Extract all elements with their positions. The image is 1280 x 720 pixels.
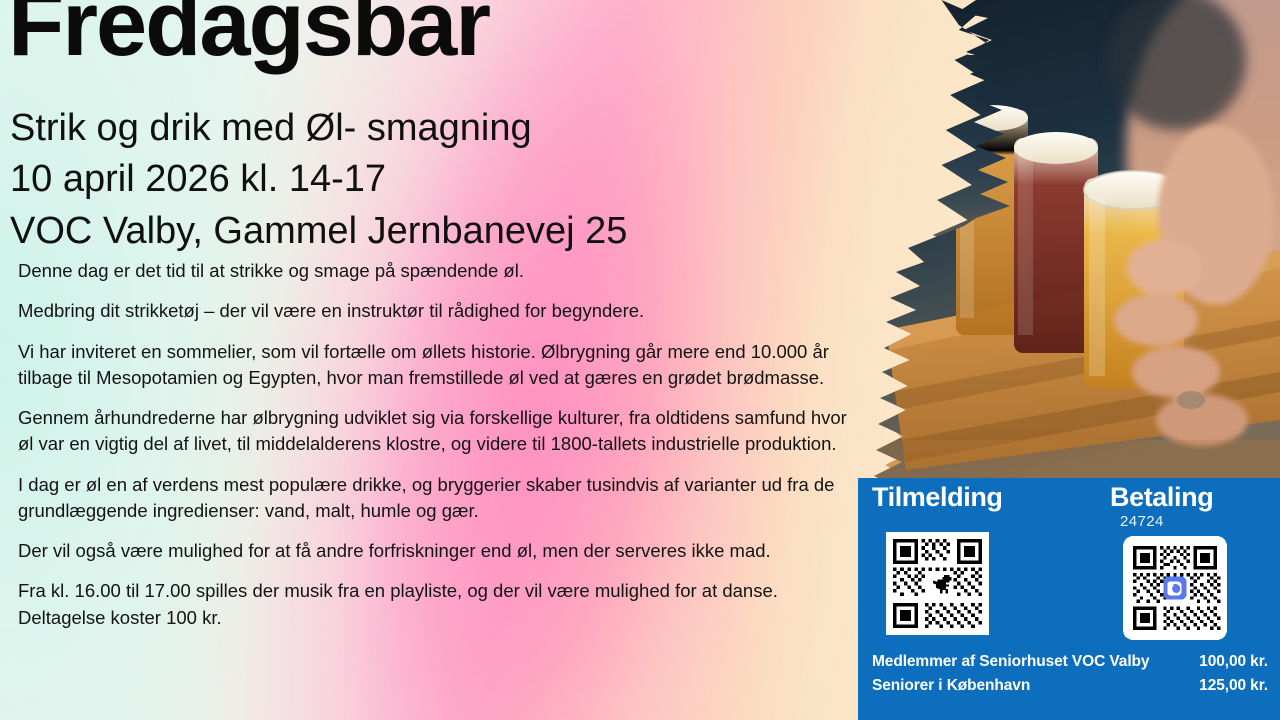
mobilepay-number: 24724: [1120, 513, 1164, 530]
payment-qr-code[interactable]: [1123, 536, 1227, 640]
price-row: Medlemmer af Seniorhuset VOC Valby 100,0…: [872, 650, 1268, 674]
payment-qr-graphic: [1123, 536, 1227, 640]
paragraph: Gennem århundrederne har ølbrygning udvi…: [18, 405, 858, 458]
payment-heading: Betaling: [1110, 482, 1213, 513]
price-amount: 125,00 kr.: [1199, 674, 1268, 698]
paragraph: Medbring dit strikketøj – der vil være e…: [18, 298, 863, 324]
subheading-event: Strik og drik med Øl- smagning: [10, 106, 532, 151]
paragraph: Vi har inviteret en sommelier, som vil f…: [18, 339, 858, 392]
poster-canvas: Fredagsbar Strik og drik med Øl- smagnin…: [0, 0, 1280, 720]
price-row: Seniorer i København 125,00 kr.: [872, 674, 1268, 698]
price-label: Seniorer i København: [872, 674, 1030, 698]
paragraph: I dag er øl en af verdens mest populære …: [18, 472, 858, 525]
subheading-location: VOC Valby, Gammel Jernbanevej 25: [10, 209, 627, 254]
signup-payment-panel: Tilmelding Betaling 24724: [858, 478, 1280, 720]
price-list: Medlemmer af Seniorhuset VOC Valby 100,0…: [872, 650, 1268, 698]
mobilepay-icon: [1163, 576, 1186, 599]
panel-headings: Tilmelding Betaling 24724: [858, 478, 1280, 522]
paragraph: Fra kl. 16.00 til 17.00 spilles der musi…: [18, 578, 858, 631]
beer-glasses-illustration: [846, 0, 1280, 500]
body-paragraphs: Denne dag er det tid til at strikke og s…: [18, 258, 863, 645]
paragraph: Der vil også være mulighed for at få and…: [18, 538, 858, 564]
page-title: Fredagsbar: [8, 0, 489, 70]
signup-heading: Tilmelding: [872, 482, 1003, 513]
subheading-datetime: 10 april 2026 kl. 14-17: [10, 157, 386, 202]
price-amount: 100,00 kr.: [1199, 650, 1268, 674]
dinosaur-icon: [925, 571, 953, 599]
price-label: Medlemmer af Seniorhuset VOC Valby: [872, 650, 1149, 674]
beer-flight-photo: [846, 0, 1280, 500]
paragraph: Denne dag er det tid til at strikke og s…: [18, 258, 863, 284]
signup-qr-code[interactable]: [886, 532, 989, 635]
signup-qr-graphic: [886, 532, 989, 635]
